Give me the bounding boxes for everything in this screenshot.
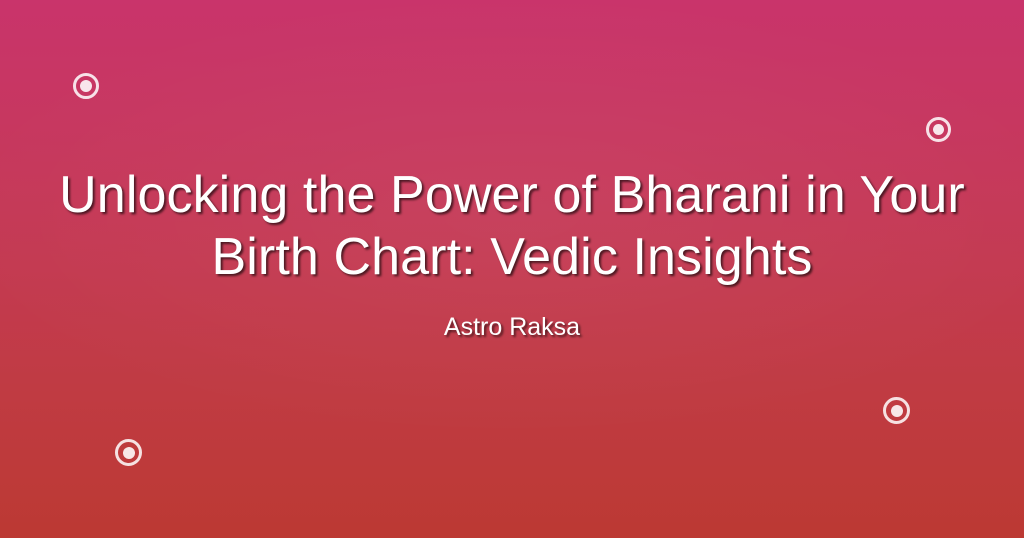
circle-dot-icon xyxy=(123,447,135,459)
page-subtitle: Astro Raksa xyxy=(56,312,968,342)
title-block: Unlocking the Power of Bharani in Your B… xyxy=(0,164,1024,342)
circle-decoration-bottom-left-icon xyxy=(115,439,142,466)
circle-dot-icon xyxy=(933,124,944,135)
circle-decoration-top-right-icon xyxy=(926,117,951,142)
circle-decoration-top-left-icon xyxy=(73,73,99,99)
page-title: Unlocking the Power of Bharani in Your B… xyxy=(56,164,968,288)
circle-decoration-bottom-right-icon xyxy=(883,397,910,424)
circle-dot-icon xyxy=(80,80,92,92)
title-card: Unlocking the Power of Bharani in Your B… xyxy=(0,0,1024,538)
circle-dot-icon xyxy=(891,405,903,417)
